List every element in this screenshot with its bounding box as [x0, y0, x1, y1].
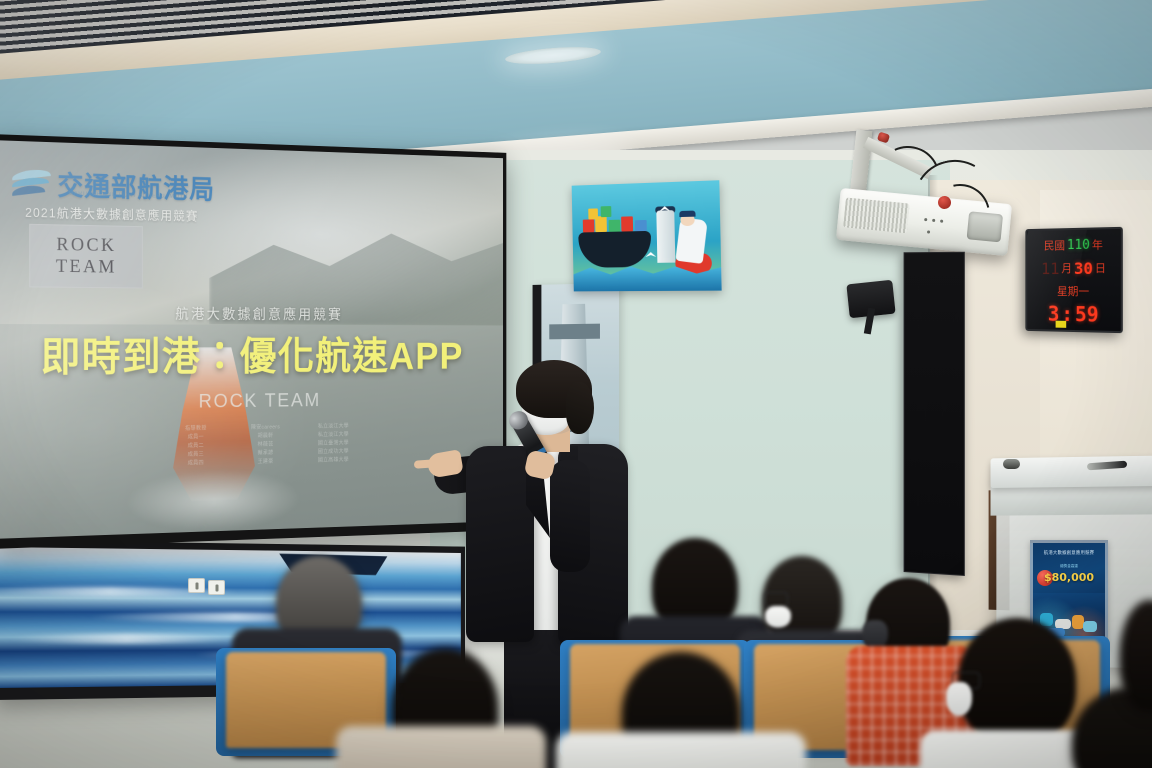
- presenter-right-arm: [550, 460, 590, 572]
- projection-screen: 交通部航港局 MARITIME AND PORT BUREAU, MOTC 20…: [0, 140, 503, 539]
- roster-cell: 成員一: [162, 432, 229, 441]
- organization-name: 交通部航港局: [57, 164, 214, 206]
- competition-name: 2021航港大數據創意應用競賽: [25, 202, 198, 225]
- poster-title: 航港大數據創意應用競賽: [1033, 550, 1105, 556]
- roster-cell: 胡晨軒: [233, 431, 298, 440]
- audience-body: [336, 726, 546, 768]
- slide-title: 即時到港：優化航速APP: [0, 323, 503, 383]
- mural-sailor-cap: [679, 211, 696, 217]
- presentation-photo: 交通部航港局 MARITIME AND PORT BUREAU, MOTC 20…: [0, 0, 1152, 768]
- roster-cell: 國立臺灣大學: [301, 438, 365, 447]
- presenter-hair-side: [566, 382, 594, 434]
- podium-knob: [1003, 459, 1020, 469]
- team-badge-line2: TEAM: [56, 257, 117, 277]
- team-badge: ROCK TEAM: [30, 224, 143, 288]
- projector-indicator-led: [927, 230, 930, 233]
- podium-rim: [991, 484, 1152, 516]
- presenter-pointing-finger: [414, 459, 437, 469]
- roster-cell: 林薇芸: [233, 440, 298, 449]
- presenter-jacket-left: [466, 446, 534, 642]
- poster-subtitle: 總獎金高達: [1033, 564, 1105, 569]
- slide-ship-wake: [125, 468, 301, 534]
- audience-glasses-icon: [764, 592, 788, 607]
- roster-cell: 成員二: [162, 441, 229, 450]
- roster-cell: 私立淡江大學: [301, 430, 365, 439]
- acoustic-wall-panel: [904, 252, 965, 576]
- audience-face-mask: [946, 682, 972, 716]
- led-wall-clock: 民國 110 年 11 月 30 日 星期一 3 : 59: [1025, 227, 1122, 333]
- clock-year-label-right: 年: [1092, 236, 1103, 252]
- audience-body: [556, 732, 806, 768]
- roster-cell: 成員四: [162, 458, 229, 467]
- wall-socket[interactable]: [208, 580, 225, 595]
- team-badge-line1: ROCK: [56, 235, 116, 256]
- lighthouse-gallery: [549, 324, 600, 340]
- wall-socket[interactable]: [188, 578, 205, 593]
- harbor-mural-poster: [572, 180, 722, 291]
- roster-cell: 國立成功大學: [301, 447, 365, 456]
- roster-cell: 成員三: [162, 450, 229, 459]
- audience-face-mask: [765, 606, 791, 628]
- clock-day-label: 日: [1095, 260, 1106, 276]
- clock-minute-value: 59: [1075, 302, 1099, 327]
- roster-cell: 王建豪: [233, 457, 298, 466]
- roster-cell: 指導教授: [162, 424, 229, 433]
- slide-subtitle: 航港大數據創意應用競賽: [0, 302, 503, 325]
- roster-cell: 陳安careers: [233, 423, 298, 432]
- mural-lighthouse: [656, 210, 675, 263]
- roster-cell: 私立淡江大學: [301, 422, 365, 431]
- slide-roster-table: 指導教授陳安careers私立淡江大學成員一胡晨軒私立淡江大學成員二林薇芸國立臺…: [162, 422, 365, 468]
- poster-prize-amount: $80,000: [1033, 571, 1105, 584]
- wave-logo-icon: [12, 169, 51, 196]
- roster-cell: 蔡承諺: [233, 448, 298, 457]
- roster-cell: 國立高雄大學: [301, 455, 365, 464]
